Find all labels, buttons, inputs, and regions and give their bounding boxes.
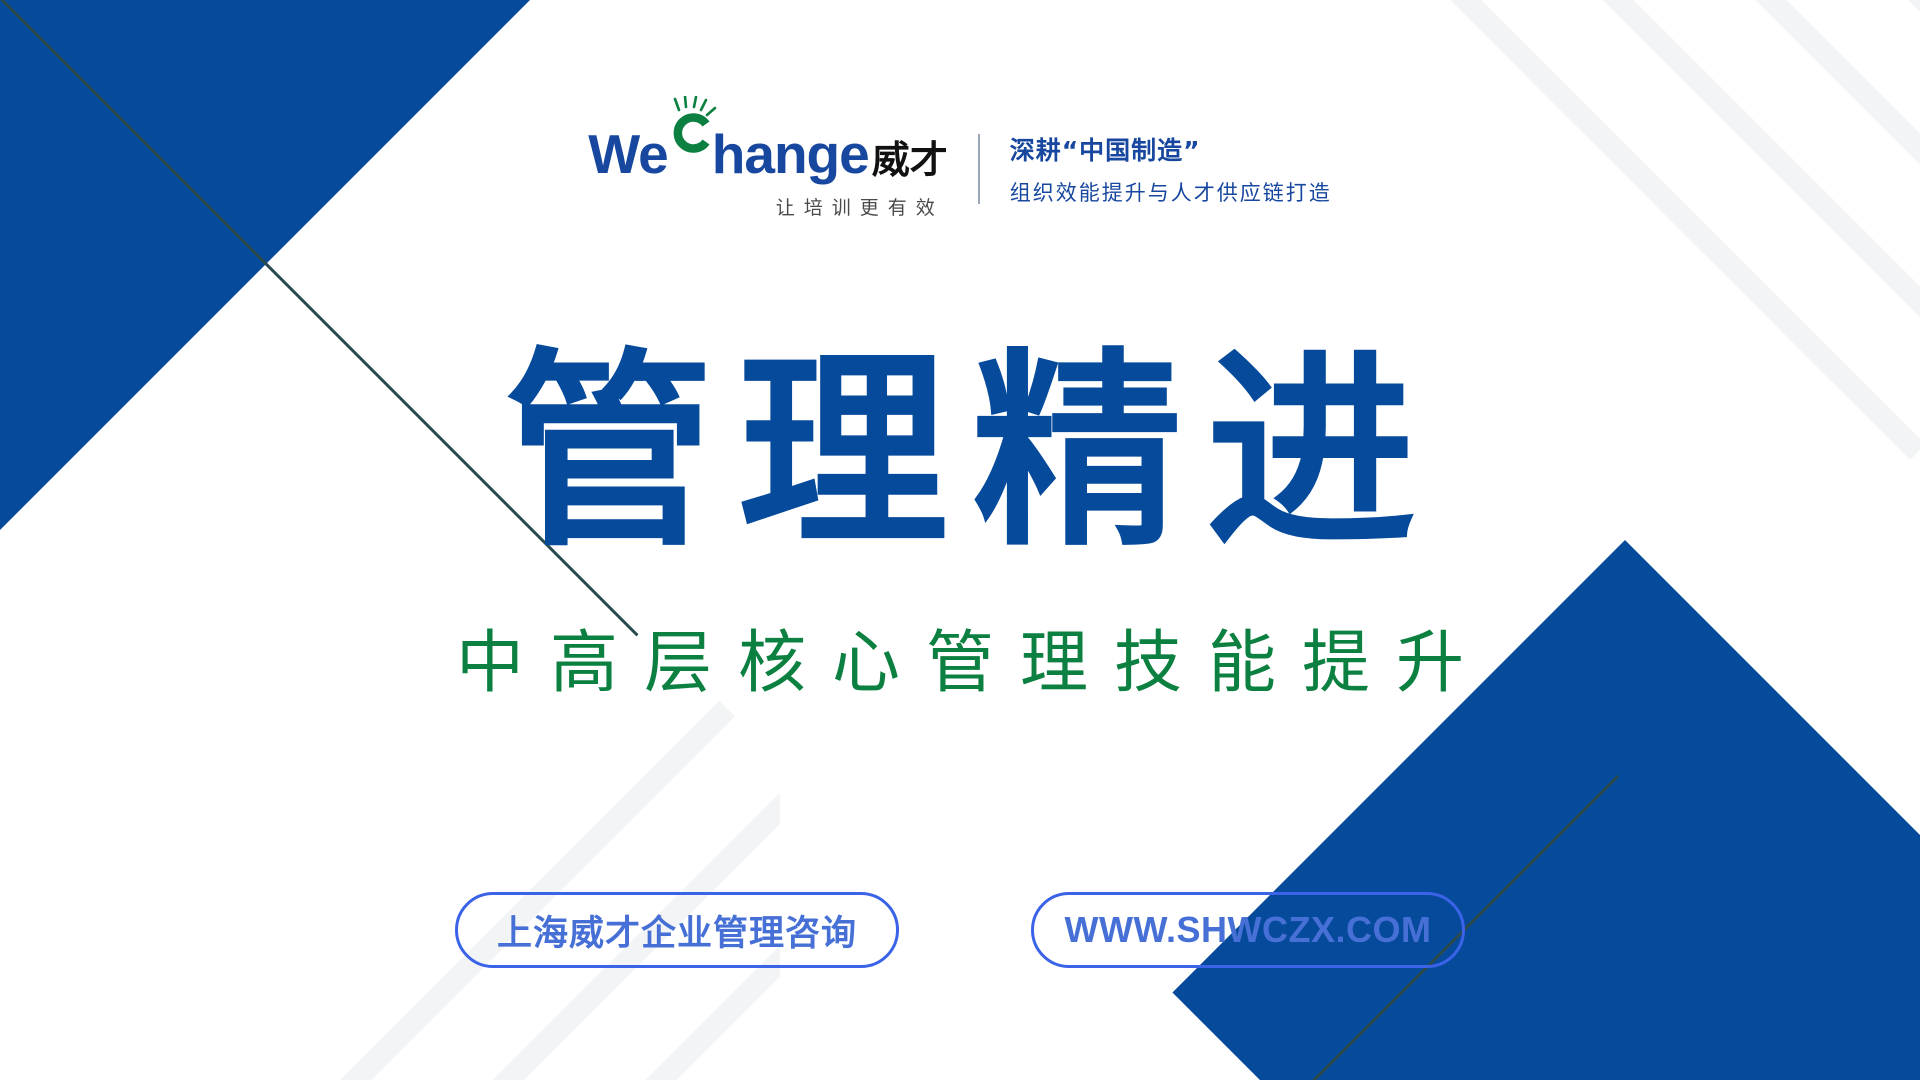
logo-text-hange: hange (712, 127, 869, 182)
logo-lockup: We hange (588, 118, 948, 220)
brand-slogan: 深耕“中国制造” 组织效能提升与人才供应链打造 (1010, 131, 1332, 207)
logo-text-we: We (588, 127, 668, 182)
logo-tagline: 让培训更有效 (776, 193, 948, 220)
slogan-secondary: 组织效能提升与人才供应链打造 (1010, 177, 1332, 207)
logo-wordmark: We hange (588, 118, 948, 182)
logo-text-chinese: 威才 (872, 141, 948, 179)
poster-canvas: We hange (0, 0, 1920, 1080)
sunburst-c-icon-svg (666, 96, 722, 166)
content-layer: We hange (0, 0, 1920, 1080)
header-divider (978, 134, 980, 204)
hero-subtitle: 中高层核心管理技能提升 (0, 630, 1920, 698)
website-url-pill[interactable]: WWW.SHWCZX.COM (1031, 892, 1465, 968)
company-name-pill[interactable]: 上海威才企业管理咨询 (455, 892, 899, 968)
sunburst-c-icon (668, 118, 712, 173)
brand-header: We hange (0, 118, 1920, 220)
hero-title: 管理精进 (0, 348, 1920, 558)
slogan-primary: 深耕“中国制造” (1010, 131, 1332, 167)
footer-pill-group: 上海威才企业管理咨询 WWW.SHWCZX.COM (0, 892, 1920, 968)
